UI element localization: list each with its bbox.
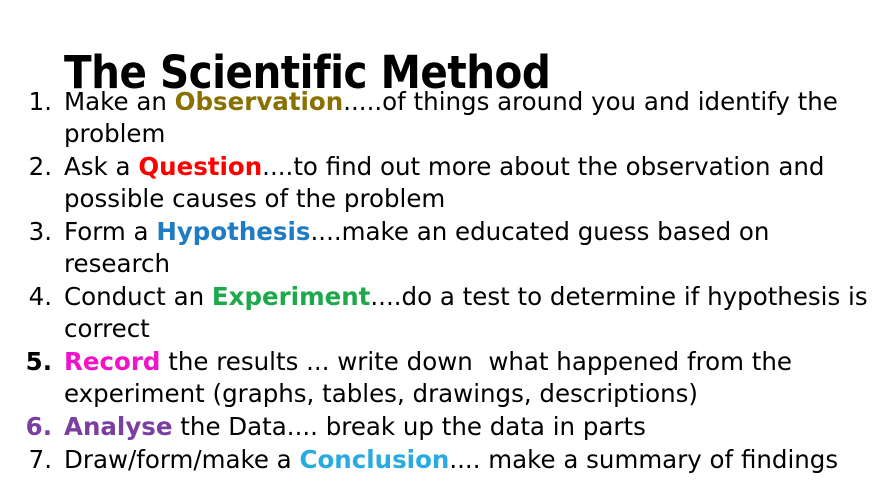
list-item-number: 7.: [0, 444, 52, 476]
list-item-text: Draw/form/make a Conclusion.... make a s…: [64, 444, 872, 476]
list-item-text-before: Form a: [64, 217, 156, 246]
list-item-number: 1.: [0, 86, 52, 118]
list-item: 1.Make an Observation.....of things arou…: [0, 86, 880, 150]
list-item-text-before: Make an: [64, 87, 175, 116]
list-item: 6.Analyse the Data.... break up the data…: [0, 411, 880, 443]
list-item-text-after: the Data.... break up the data in parts: [173, 412, 646, 441]
list-item-number: 4.: [0, 281, 52, 313]
list-item: 4.Conduct an Experiment....do a test to …: [0, 281, 880, 345]
list-item-text: Conduct an Experiment....do a test to de…: [64, 281, 872, 345]
list-item-number: 6.: [0, 411, 52, 443]
list-item-keyword: Question: [138, 152, 262, 181]
list-item-text-after: the results ... write down what happened…: [64, 347, 800, 408]
list-item-text: Ask a Question....to find out more about…: [64, 151, 872, 215]
list-item-text: Analyse the Data.... break up the data i…: [64, 411, 872, 443]
list-item: 2.Ask a Question....to find out more abo…: [0, 151, 880, 215]
list-item: 7.Draw/form/make a Conclusion.... make a…: [0, 444, 880, 476]
list-item-number: 5.: [0, 346, 52, 378]
list-item-keyword: Analyse: [64, 412, 173, 441]
slide-canvas: The Scientific Method 1.Make an Observat…: [0, 0, 880, 495]
list-item-text: Record the results ... write down what h…: [64, 346, 872, 410]
list-item-keyword: Record: [64, 347, 160, 376]
list-item-keyword: Experiment: [212, 282, 370, 311]
list-item-number: 3.: [0, 216, 52, 248]
list-item-keyword: Conclusion: [299, 445, 449, 474]
list-item-text: Form a Hypothesis....make an educated gu…: [64, 216, 872, 280]
list-item-text-before: Conduct an: [64, 282, 212, 311]
list-item-text-before: Ask a: [64, 152, 138, 181]
list-item-keyword: Hypothesis: [156, 217, 310, 246]
list-item-text-after: .... make a summary of findings: [449, 445, 838, 474]
list-item-number: 2.: [0, 151, 52, 183]
list-item-text: Make an Observation.....of things around…: [64, 86, 872, 150]
scientific-method-steps-list: 1.Make an Observation.....of things arou…: [0, 86, 880, 477]
list-item-keyword: Observation: [175, 87, 344, 116]
list-item: 3.Form a Hypothesis....make an educated …: [0, 216, 880, 280]
list-item: 5.Record the results ... write down what…: [0, 346, 880, 410]
list-item-text-before: Draw/form/make a: [64, 445, 299, 474]
